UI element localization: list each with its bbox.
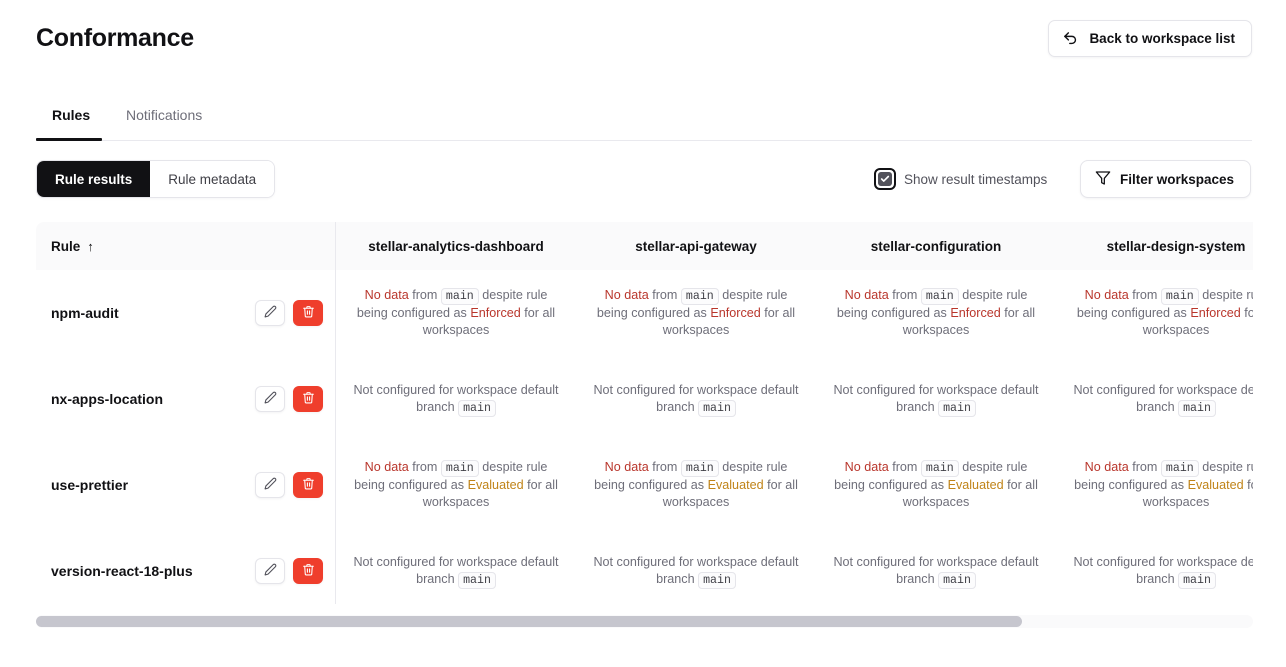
result-message: No data from main despite rule being con…: [590, 459, 802, 511]
table-row: use-prettierNo data from main despite ru…: [36, 442, 1253, 528]
segment-rule-results[interactable]: Rule results: [37, 161, 150, 197]
row-actions: [255, 386, 323, 412]
rule-name: version-react-18-plus: [51, 563, 193, 579]
page-title: Conformance: [36, 24, 194, 53]
rule-status-label: Evaluated: [948, 478, 1004, 492]
result-cell: Not configured for workspace default bra…: [1056, 356, 1253, 442]
table-row: npm-auditNo data from main despite rule …: [36, 270, 1253, 356]
segment-rule-metadata[interactable]: Rule metadata: [150, 161, 274, 197]
tab-bar-divider: [36, 140, 1252, 141]
results-table-viewport: Rule ↑ stellar-analytics-dashboard stell…: [36, 222, 1253, 604]
result-cell: No data from main despite rule being con…: [576, 270, 816, 356]
no-data-label: No data: [845, 460, 889, 474]
edit-rule-button[interactable]: [255, 472, 285, 498]
edit-rule-button[interactable]: [255, 386, 285, 412]
branch-code-chip: main: [681, 288, 719, 305]
checkbox-focus-ring: [874, 168, 896, 190]
result-cell: Not configured for workspace default bra…: [336, 356, 576, 442]
row-actions: [255, 558, 323, 584]
result-cell: No data from main despite rule being con…: [816, 442, 1056, 528]
no-data-label: No data: [365, 460, 409, 474]
horizontal-scrollbar-track[interactable]: [36, 615, 1253, 628]
conformance-page: Conformance Back to workspace list Rules…: [0, 0, 1286, 667]
column-header-workspace-0[interactable]: stellar-analytics-dashboard: [336, 222, 576, 270]
row-actions: [255, 300, 323, 326]
delete-rule-button[interactable]: [293, 386, 323, 412]
result-message: No data from main despite rule being con…: [1070, 287, 1253, 339]
column-header-workspace-2[interactable]: stellar-configuration: [816, 222, 1056, 270]
rule-cell: npm-audit: [36, 270, 336, 356]
delete-rule-button[interactable]: [293, 558, 323, 584]
result-cell: Not configured for workspace default bra…: [1056, 528, 1253, 604]
result-message: Not configured for workspace default bra…: [1070, 382, 1253, 417]
no-data-label: No data: [605, 288, 649, 302]
column-header-workspace-3[interactable]: stellar-design-system: [1056, 222, 1253, 270]
result-cell: No data from main despite rule being con…: [1056, 270, 1253, 356]
result-message: Not configured for workspace default bra…: [350, 554, 562, 589]
result-cell: No data from main despite rule being con…: [336, 270, 576, 356]
no-data-label: No data: [365, 288, 409, 302]
result-cell: No data from main despite rule being con…: [816, 270, 1056, 356]
trash-icon: [302, 391, 315, 407]
show-result-timestamps-label: Show result timestamps: [904, 172, 1047, 187]
filter-workspaces-label: Filter workspaces: [1120, 172, 1234, 187]
page-header: Conformance Back to workspace list: [0, 0, 1286, 84]
tab-notifications[interactable]: Notifications: [120, 106, 208, 141]
delete-rule-button[interactable]: [293, 472, 323, 498]
branch-code-chip: main: [938, 400, 976, 417]
result-message: No data from main despite rule being con…: [350, 287, 562, 339]
result-message: Not configured for workspace default bra…: [1070, 554, 1253, 589]
result-message: No data from main despite rule being con…: [1070, 459, 1253, 511]
tab-rules[interactable]: Rules: [46, 106, 96, 141]
no-data-label: No data: [1085, 288, 1129, 302]
branch-code-chip: main: [458, 572, 496, 589]
row-actions: [255, 472, 323, 498]
back-arrow-icon: [1062, 30, 1079, 47]
branch-code-chip: main: [441, 288, 479, 305]
branch-code-chip: main: [441, 460, 479, 477]
horizontal-scrollbar-thumb[interactable]: [36, 616, 1022, 627]
pencil-icon: [264, 305, 277, 321]
result-cell: Not configured for workspace default bra…: [816, 528, 1056, 604]
rule-cell: version-react-18-plus: [36, 528, 336, 604]
edit-rule-button[interactable]: [255, 558, 285, 584]
rule-cell: use-prettier: [36, 442, 336, 528]
branch-code-chip: main: [921, 288, 959, 305]
result-cell: Not configured for workspace default bra…: [576, 356, 816, 442]
rule-status-label: Enforced: [1190, 306, 1240, 320]
branch-code-chip: main: [681, 460, 719, 477]
active-tab-indicator: [36, 138, 102, 141]
table-row: version-react-18-plusNot configured for …: [36, 528, 1253, 604]
result-cell: Not configured for workspace default bra…: [576, 528, 816, 604]
pencil-icon: [264, 563, 277, 579]
rule-status-label: Evaluated: [468, 478, 524, 492]
branch-code-chip: main: [458, 400, 496, 417]
result-message: Not configured for workspace default bra…: [590, 382, 802, 417]
rule-cell: nx-apps-location: [36, 356, 336, 442]
back-button-label: Back to workspace list: [1089, 31, 1235, 46]
result-cell: No data from main despite rule being con…: [576, 442, 816, 528]
filter-workspaces-button[interactable]: Filter workspaces: [1080, 160, 1251, 198]
no-data-label: No data: [1085, 460, 1129, 474]
table-body: npm-auditNo data from main despite rule …: [36, 270, 1253, 604]
result-cell: No data from main despite rule being con…: [336, 442, 576, 528]
edit-rule-button[interactable]: [255, 300, 285, 326]
branch-code-chip: main: [698, 572, 736, 589]
rule-status-label: Evaluated: [708, 478, 764, 492]
result-message: Not configured for workspace default bra…: [830, 554, 1042, 589]
rule-status-label: Evaluated: [1188, 478, 1244, 492]
rule-name: use-prettier: [51, 477, 128, 493]
tab-bar: Rules Notifications: [0, 106, 1286, 141]
result-cell: No data from main despite rule being con…: [1056, 442, 1253, 528]
table-header-row: Rule ↑ stellar-analytics-dashboard stell…: [36, 222, 1253, 270]
result-cell: Not configured for workspace default bra…: [336, 528, 576, 604]
pencil-icon: [264, 391, 277, 407]
pencil-icon: [264, 477, 277, 493]
result-message: No data from main despite rule being con…: [830, 459, 1042, 511]
branch-code-chip: main: [1161, 460, 1199, 477]
column-header-rule[interactable]: Rule ↑: [36, 222, 336, 270]
column-header-workspace-1[interactable]: stellar-api-gateway: [576, 222, 816, 270]
rule-name: nx-apps-location: [51, 391, 163, 407]
branch-code-chip: main: [1178, 400, 1216, 417]
view-mode-segmented-control: Rule results Rule metadata: [36, 160, 275, 198]
rule-status-label: Enforced: [470, 306, 520, 320]
results-table: Rule ↑ stellar-analytics-dashboard stell…: [36, 222, 1253, 604]
rule-name: npm-audit: [51, 305, 119, 321]
branch-code-chip: main: [698, 400, 736, 417]
show-result-timestamps-checkbox[interactable]: Show result timestamps: [874, 168, 1047, 190]
rule-status-label: Enforced: [950, 306, 1000, 320]
rule-status-label: Enforced: [710, 306, 760, 320]
trash-icon: [302, 477, 315, 493]
no-data-label: No data: [605, 460, 649, 474]
no-data-label: No data: [845, 288, 889, 302]
sort-ascending-icon: ↑: [87, 239, 94, 254]
branch-code-chip: main: [1161, 288, 1199, 305]
result-message: No data from main despite rule being con…: [590, 287, 802, 339]
checkbox-checked-icon: [878, 172, 892, 186]
result-message: Not configured for workspace default bra…: [830, 382, 1042, 417]
result-message: No data from main despite rule being con…: [350, 459, 562, 511]
result-message: No data from main despite rule being con…: [830, 287, 1042, 339]
result-cell: Not configured for workspace default bra…: [816, 356, 1056, 442]
trash-icon: [302, 305, 315, 321]
branch-code-chip: main: [921, 460, 959, 477]
result-message: Not configured for workspace default bra…: [350, 382, 562, 417]
branch-code-chip: main: [938, 572, 976, 589]
funnel-icon: [1095, 170, 1111, 189]
table-toolbar: Rule results Rule metadata Show result t…: [0, 160, 1286, 200]
trash-icon: [302, 563, 315, 579]
column-header-rule-label: Rule: [51, 239, 80, 254]
back-to-workspace-list-button[interactable]: Back to workspace list: [1048, 20, 1252, 57]
result-message: Not configured for workspace default bra…: [590, 554, 802, 589]
table-row: nx-apps-locationNot configured for works…: [36, 356, 1253, 442]
branch-code-chip: main: [1178, 572, 1216, 589]
delete-rule-button[interactable]: [293, 300, 323, 326]
